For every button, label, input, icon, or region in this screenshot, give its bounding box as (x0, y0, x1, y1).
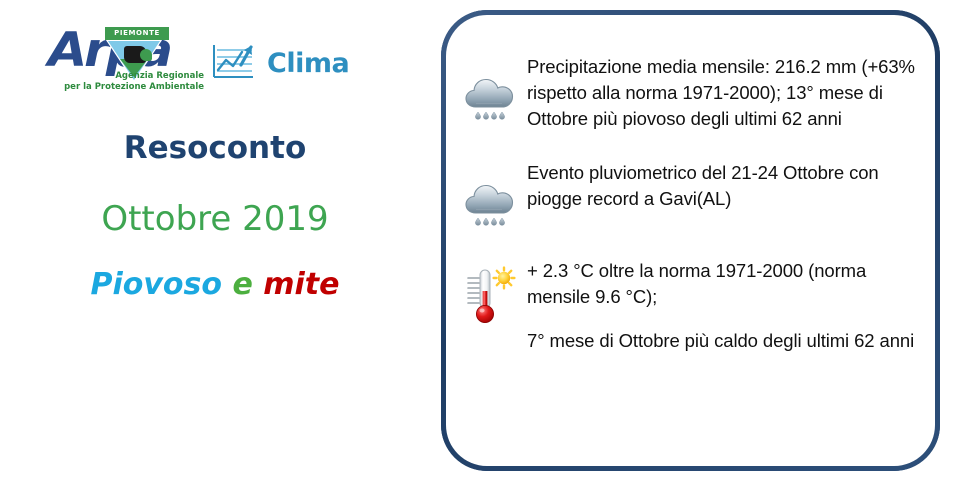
info-row-text: Evento pluviometrico del 21-24 Ottobre c… (527, 158, 933, 212)
info-paragraph: Precipitazione media mensile: 216.2 mm (… (527, 54, 933, 132)
arpa-emblem-leaf-icon (140, 49, 152, 61)
info-row-text: Precipitazione media mensile: 216.2 mm (… (527, 52, 933, 132)
info-paragraph: + 2.3 °C oltre la norma 1971-2000 (norma… (527, 258, 933, 310)
summary-conjunction: e (232, 267, 252, 302)
summary-mild-word: mite (263, 267, 339, 302)
info-row-list: Precipitazione media mensile: 216.2 mm (… (455, 52, 933, 380)
arpa-subtitle-line2: per la Protezione Ambientale (56, 82, 204, 93)
left-panel: Arpa PIEMONTE Agenzia Regionale per la P… (0, 0, 430, 493)
rain-cloud-icon (455, 52, 527, 124)
piemonte-banner: PIEMONTE (105, 27, 169, 40)
info-paragraph: Evento pluviometrico del 21-24 Ottobre c… (527, 160, 933, 212)
summary-rainy-word: Piovoso (90, 267, 222, 302)
line-chart-arrow-icon (211, 41, 257, 86)
info-row-temperature: + 2.3 °C oltre la norma 1971-2000 (norma… (455, 256, 933, 354)
summary-subtitle: Piovoso e mite (0, 266, 430, 304)
rain-cloud-icon (455, 158, 527, 230)
month-subtitle: Ottobre 2019 (0, 198, 430, 240)
arpa-subtitle: Agenzia Regionale per la Protezione Ambi… (56, 71, 204, 93)
thermometer-sun-icon (455, 256, 527, 328)
clima-logo: Clima (211, 40, 349, 86)
page-title: Resoconto (0, 128, 430, 168)
info-row-precipitation: Precipitazione media mensile: 216.2 mm (… (455, 52, 933, 132)
clima-label: Clima (267, 48, 349, 79)
arpa-subtitle-line1: Agenzia Regionale (115, 71, 204, 81)
arpa-piemonte-logo: Arpa PIEMONTE Agenzia Regionale per la P… (48, 26, 200, 98)
headline-block: Resoconto Ottobre 2019 Piovoso e mite (0, 128, 430, 304)
info-row-text: + 2.3 °C oltre la norma 1971-2000 (norma… (527, 256, 933, 354)
info-paragraph: 7° mese di Ottobre più caldo degli ultim… (527, 328, 933, 354)
logo-row: Arpa PIEMONTE Agenzia Regionale per la P… (48, 26, 378, 102)
info-row-rain-event: Evento pluviometrico del 21-24 Ottobre c… (455, 158, 933, 230)
